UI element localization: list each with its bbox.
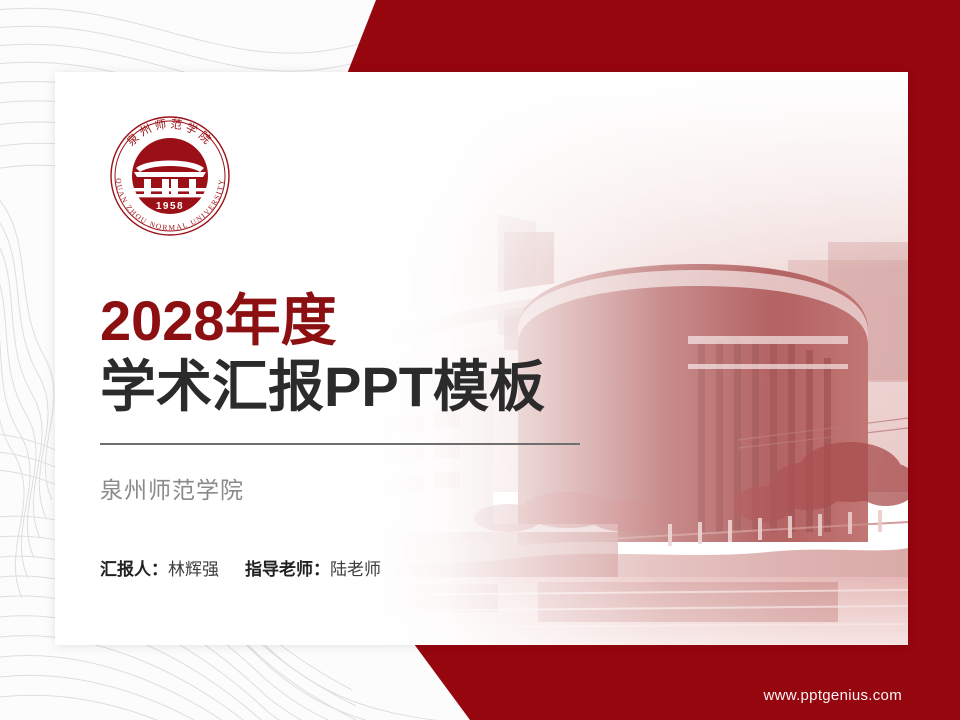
title-main: 学术汇报PPT模板 — [100, 355, 580, 419]
advisor-value: 陆老师 — [330, 560, 381, 579]
red-top-band — [0, 0, 960, 74]
byline: 汇报人：林辉强指导老师：陆老师 — [100, 555, 580, 580]
ppt-cover-slide: 泉州师范学院 QUAN ZHOU NORMAL UNIVERSITY — [0, 0, 960, 720]
content-card: 泉州师范学院 QUAN ZHOU NORMAL UNIVERSITY — [55, 72, 908, 645]
title-divider — [100, 443, 580, 445]
svg-text:1958: 1958 — [156, 201, 184, 212]
subtitle-university: 泉州师范学院 — [100, 471, 580, 505]
red-right-band — [908, 0, 960, 720]
university-logo: 泉州师范学院 QUAN ZHOU NORMAL UNIVERSITY — [100, 106, 240, 246]
advisor-separator: ： — [313, 560, 330, 579]
presenter-separator: ： — [151, 560, 168, 579]
title-year: 2028年度 — [100, 290, 580, 353]
presenter-label: 汇报人 — [100, 560, 151, 579]
presenter-value: 林辉强 — [168, 560, 219, 579]
red-bottom-band — [0, 644, 960, 720]
site-watermark[interactable]: www.pptgenius.com — [764, 687, 903, 704]
advisor-label: 指导老师 — [245, 560, 313, 579]
title-text-block: 2028年度 学术汇报PPT模板 泉州师范学院 汇报人：林辉强指导老师：陆老师 — [100, 290, 580, 580]
